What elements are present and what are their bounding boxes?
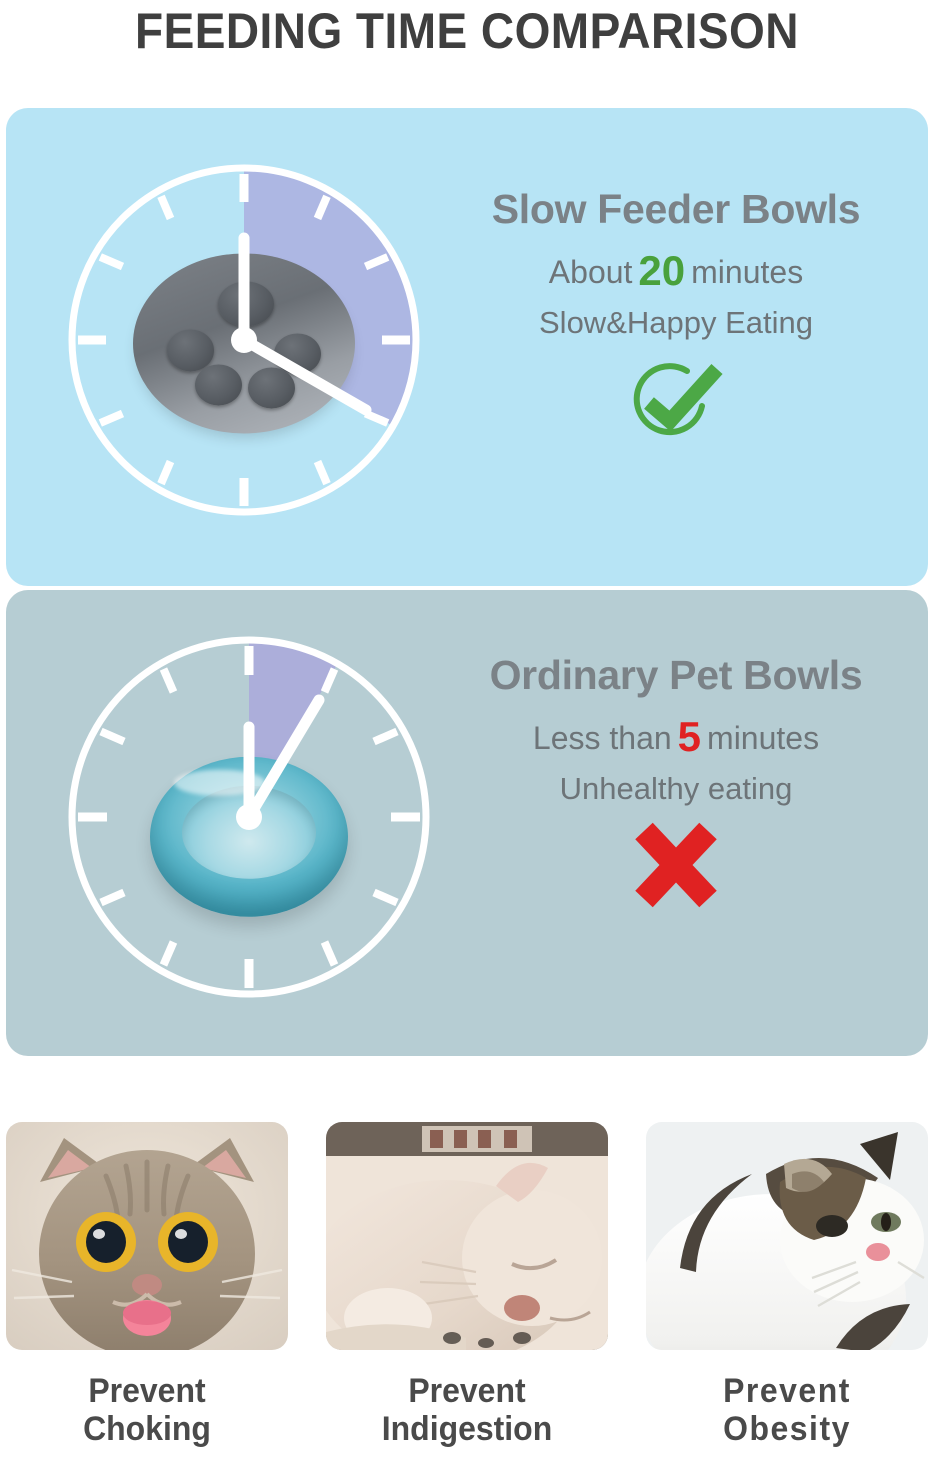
verdict-ordinary [436, 819, 916, 911]
verdict-slow-feeder [436, 353, 916, 445]
benefit-card-indigestion: Prevent Indigestion [326, 1122, 608, 1448]
benefit-cards: Prevent Choking [6, 1122, 928, 1448]
benefit-card-choking: Prevent Choking [6, 1122, 288, 1448]
cream-cat-sleeping-photo [326, 1122, 608, 1350]
duration-value: 5 [672, 713, 707, 760]
heading-ordinary: Ordinary Pet Bowls [436, 652, 916, 699]
duration-line-slow-feeder: About20minutes [436, 247, 916, 295]
heading-slow-feeder: Slow Feeder Bowls [436, 186, 916, 233]
duration-suffix: minutes [707, 720, 819, 756]
clock-center-cap [231, 327, 257, 353]
tabby-cat-tongue-out-photo [6, 1122, 288, 1350]
duration-value: 20 [632, 247, 691, 294]
page-title: FEEDING TIME COMPARISON [37, 2, 896, 60]
clock-slow-feeder [64, 160, 424, 520]
duration-line-ordinary: Less than5minutes [436, 713, 916, 761]
duration-prefix: Less than [533, 720, 672, 756]
minute-hand [249, 700, 319, 817]
duration-suffix: minutes [691, 254, 803, 290]
benefit-label-indigestion: Prevent Indigestion [334, 1372, 599, 1448]
copy-ordinary: Ordinary Pet Bowls Less than5minutes Unh… [436, 652, 916, 911]
red-cross-icon [628, 819, 724, 911]
clock-hands [244, 238, 366, 410]
benefit-label-obesity: Prevent Obesity [654, 1372, 919, 1448]
overweight-white-tabby-cat-photo [646, 1122, 928, 1350]
copy-slow-feeder: Slow Feeder Bowls About20minutes Slow&Ha… [436, 186, 916, 445]
duration-prefix: About [549, 254, 633, 290]
subtext-ordinary: Unhealthy eating [436, 771, 916, 807]
green-check-icon [621, 355, 731, 443]
subtext-slow-feeder: Slow&Happy Eating [436, 305, 916, 341]
benefit-label-choking: Prevent Choking [14, 1372, 279, 1448]
clock-center-cap [236, 804, 262, 830]
comparison-panel-slow-feeder: Slow Feeder Bowls About20minutes Slow&Ha… [6, 108, 928, 586]
benefit-card-obesity: Prevent Obesity [646, 1122, 928, 1448]
minute-hand [244, 340, 366, 410]
clock-ordinary [64, 632, 434, 1002]
comparison-panel-ordinary: Ordinary Pet Bowls Less than5minutes Unh… [6, 590, 928, 1056]
clock-hands [249, 700, 319, 817]
